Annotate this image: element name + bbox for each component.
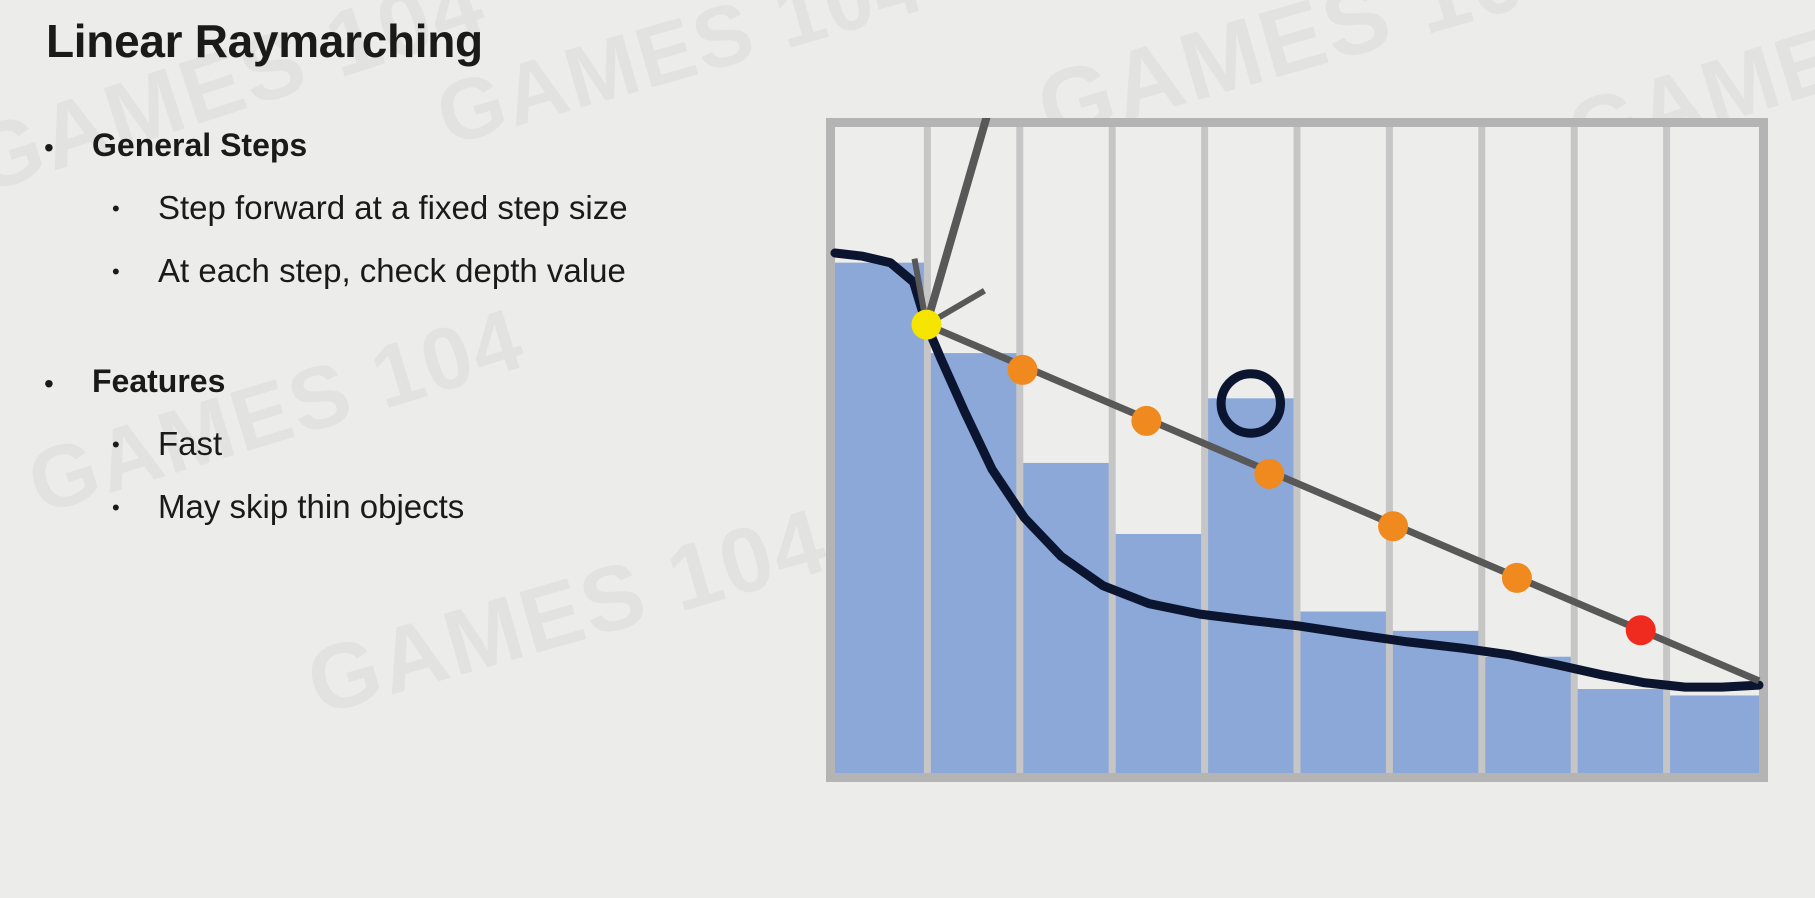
step-sample-1 (1008, 355, 1038, 385)
list-item-label: General Steps (92, 128, 307, 164)
bar (1482, 657, 1574, 773)
list-item-label: May skip thin objects (158, 489, 464, 526)
bullet-marker-icon: • (112, 426, 158, 456)
bar (1667, 695, 1759, 773)
list-item-label: Features (92, 364, 225, 400)
step-sample-2 (1131, 406, 1161, 436)
list-item-label: Fast (158, 426, 222, 463)
diagram-canvas (826, 118, 1768, 782)
bullet-marker-icon: • (112, 489, 158, 519)
bar (1112, 534, 1204, 773)
bar (927, 353, 1019, 773)
step-sample-5 (1502, 563, 1532, 593)
list-item: • At each step, check depth value (112, 253, 744, 290)
list-item-label: At each step, check depth value (158, 253, 626, 290)
bar (1205, 398, 1297, 773)
list-item: • General Steps (44, 128, 744, 164)
watermark-text: GAMES 104 (296, 488, 839, 736)
list-item: • Step forward at a fixed step size (112, 190, 744, 227)
hit-sample (1626, 615, 1656, 645)
bar (835, 263, 927, 773)
step-sample-4 (1378, 511, 1408, 541)
list-item-label: Step forward at a fixed step size (158, 190, 628, 227)
bullet-marker-icon: • (112, 253, 158, 283)
bullet-marker-icon: • (44, 128, 92, 162)
list-item: • May skip thin objects (112, 489, 744, 526)
bar (1020, 463, 1112, 773)
raymarching-diagram (826, 118, 1768, 782)
bar (1574, 689, 1666, 773)
step-sample-3 (1254, 459, 1284, 489)
bullet-marker-icon: • (44, 364, 92, 398)
page-title: Linear Raymarching (46, 14, 483, 68)
bullet-list: • General Steps • Step forward at a fixe… (44, 112, 744, 525)
list-item: • Fast (112, 426, 744, 463)
ray-origin-sample (911, 310, 941, 340)
bullet-marker-icon: • (112, 190, 158, 220)
list-item: • Features (44, 364, 744, 400)
